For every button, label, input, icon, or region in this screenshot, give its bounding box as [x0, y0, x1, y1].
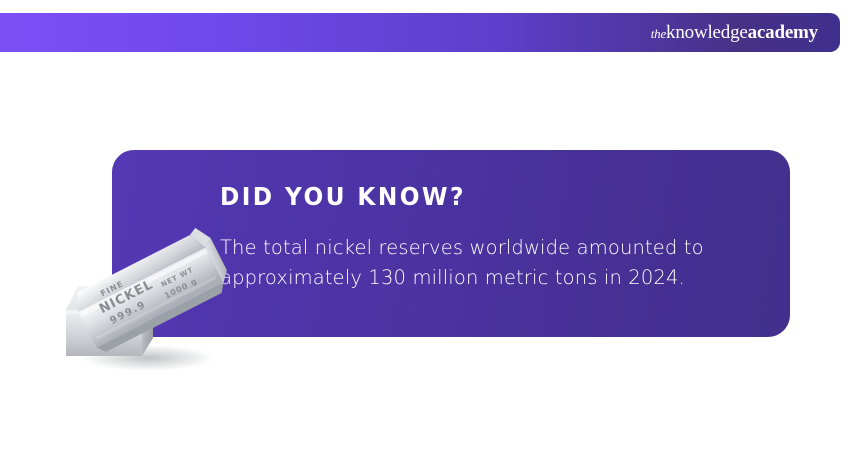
brand-logo[interactable]: theknowledgeacademy — [651, 23, 818, 42]
fact-card-text-block: DID YOU KNOW? The total nickel reserves … — [220, 184, 764, 292]
header-bar: theknowledgeacademy — [0, 13, 840, 52]
logo-middle: knowledge — [666, 22, 748, 43]
page-title: DID YOU KNOW? — [220, 184, 726, 209]
fact-body-text: The total nickel reserves worldwide amou… — [220, 233, 764, 292]
logo-prefix: the — [651, 26, 666, 41]
nickel-bars-illustration: FINE NICKEL 999.9 NET WT 1000 g — [52, 238, 237, 373]
logo-suffix: academy — [748, 22, 818, 43]
nickel-bars-svg: FINE NICKEL 999.9 NET WT 1000 g — [52, 238, 237, 373]
